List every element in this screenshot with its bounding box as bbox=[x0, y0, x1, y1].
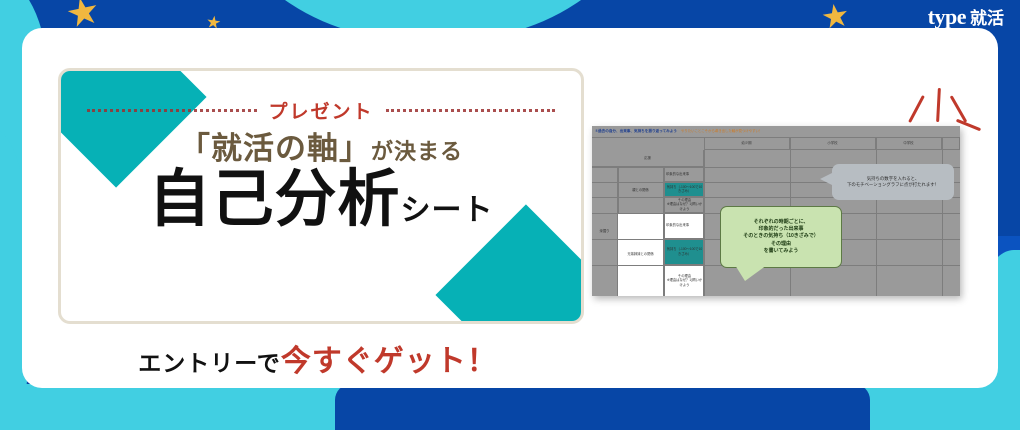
present-row: プレゼント bbox=[87, 97, 555, 124]
block-b-label: 兄弟姉妹との関係 bbox=[618, 213, 664, 296]
column-header-cell: 幼少期 bbox=[704, 137, 790, 150]
headline-frame: プレゼント 「就活の軸」が決まる 自己分析シート bbox=[58, 68, 584, 324]
sub-row-label: 印象的な出来事 bbox=[664, 167, 704, 182]
sub-row-label-highlight: 気持ち（-100～100で10きざみ） bbox=[664, 182, 704, 197]
background-blue-bottom-shape bbox=[335, 384, 870, 430]
callout-gray: 気持ちの数字を入れると、 下のモチベーショングラフに点が打たれます！ bbox=[832, 164, 954, 200]
sub-row-label-highlight: 気持ち（-100～100で10きざみ） bbox=[664, 239, 704, 265]
block-a-label: 親との関係 bbox=[618, 167, 664, 213]
row-group-top-label: 応援 bbox=[592, 150, 704, 167]
title-small: シート bbox=[401, 194, 494, 227]
sub-row-label: 印象的な出来事 bbox=[664, 213, 704, 239]
title-main: 自己分析 bbox=[148, 165, 400, 234]
page-title: 自己分析シート bbox=[61, 169, 581, 231]
present-label: プレゼント bbox=[269, 97, 374, 124]
banner-root: ★ ★ ★ type 就活 プレゼント 「就活の軸」が決まる 自己分析シート エ… bbox=[0, 0, 1020, 430]
logo-type-text: type bbox=[928, 4, 966, 30]
row-group-left-label: 深掘り bbox=[592, 167, 618, 296]
cta-text: エントリーで今すぐゲット！ bbox=[58, 336, 578, 380]
column-header-cell bbox=[942, 137, 960, 150]
column-header-cell: 中学校 bbox=[876, 137, 942, 150]
dotted-rule-right bbox=[386, 109, 556, 112]
dotted-rule-left bbox=[87, 109, 257, 112]
subtitle: 「就活の軸」が決まる bbox=[61, 123, 581, 168]
callout-green: それぞれの時期ごとに、 印象的だった出来事 そのときの気持ち（10きざみで） そ… bbox=[720, 206, 842, 268]
cta-highlight: 今すぐゲット！ bbox=[281, 345, 498, 378]
brand-logo: type 就活 bbox=[928, 4, 1004, 30]
column-header-cell: 小学校 bbox=[790, 137, 876, 150]
subtitle-quoted: 「就活の軸」 bbox=[179, 131, 371, 166]
sub-row-label: その理由 ※理由はなぜ？1)問いかけよう bbox=[664, 265, 704, 296]
subtitle-tail: が決まる bbox=[371, 139, 463, 164]
logo-suffix-text: 就活 bbox=[970, 4, 1004, 29]
cta-lead: エントリーで bbox=[138, 350, 281, 376]
sheet-title-note: やりたいことこそから導き出した軸が見つけやすい！ bbox=[681, 129, 762, 133]
sheet-title: ①過去の自分、出来事、気持ちを振り返ってみよう bbox=[595, 129, 677, 133]
sub-row-label: その理由 ※理由はなぜ？1)問いかけよう bbox=[664, 197, 704, 213]
spreadsheet-screenshot: ①過去の自分、出来事、気持ちを振り返ってみよう やりたいことこそから導き出した軸… bbox=[592, 126, 960, 296]
